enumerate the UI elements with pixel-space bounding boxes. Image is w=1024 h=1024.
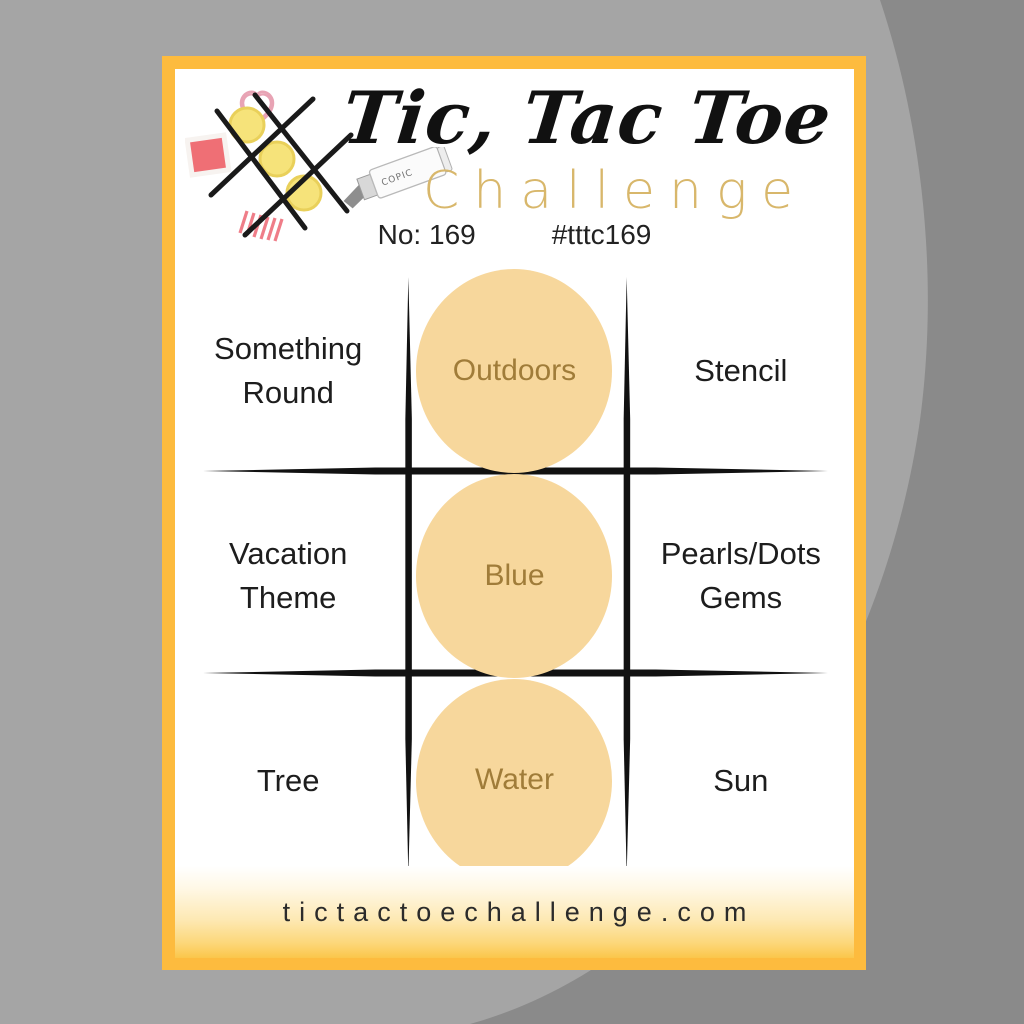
grid-cell-label: Tree (257, 759, 320, 803)
grid-cell-7[interactable]: Tree (175, 678, 401, 883)
grid-cell-5[interactable]: Blue (401, 474, 627, 679)
page-title: Tic, Tac Toe (339, 75, 836, 160)
challenge-number: No: 169 (378, 219, 476, 251)
website-url[interactable]: tictactoechallenge.com (274, 897, 756, 928)
grid-cell-label: Pearls/Dots Gems (661, 532, 821, 620)
pink-square-doodle (185, 132, 232, 177)
grid-cells: Something Round Outdoors Stencil Vacatio… (175, 269, 854, 883)
grid-cell-label: Something Round (214, 327, 362, 415)
grid-cell-1[interactable]: Something Round (175, 269, 401, 474)
card-footer: tictactoechallenge.com (175, 866, 854, 958)
grid-cell-label: Vacation Theme (229, 532, 347, 620)
challenge-card: COPIC Tic, Tac Toe Challenge No: 169 #tt… (162, 56, 866, 970)
grid-cell-label: Stencil (694, 349, 787, 393)
grid-cell-label: Sun (713, 759, 768, 803)
grid-cell-label: Outdoors (453, 350, 576, 393)
page-subtitle: Challenge (423, 161, 807, 221)
grid-cell-9[interactable]: Sun (628, 678, 854, 883)
grid-cell-4[interactable]: Vacation Theme (175, 474, 401, 679)
card-paper: COPIC Tic, Tac Toe Challenge No: 169 #tt… (175, 69, 854, 958)
grid-cell-2[interactable]: Outdoors (401, 269, 627, 474)
grid-cell-3[interactable]: Stencil (628, 269, 854, 474)
grid-cell-6[interactable]: Pearls/Dots Gems (628, 474, 854, 679)
grid-cell-label: Water (475, 759, 554, 802)
challenge-hashtag: #tttc169 (552, 219, 652, 251)
grid-cell-8[interactable]: Water (401, 678, 627, 883)
grid-cell-label: Blue (484, 555, 544, 598)
challenge-meta: No: 169 #tttc169 (175, 219, 854, 251)
card-header: COPIC Tic, Tac Toe Challenge No: 169 #tt… (175, 69, 854, 269)
tic-tac-toe-grid: Something Round Outdoors Stencil Vacatio… (175, 269, 854, 883)
